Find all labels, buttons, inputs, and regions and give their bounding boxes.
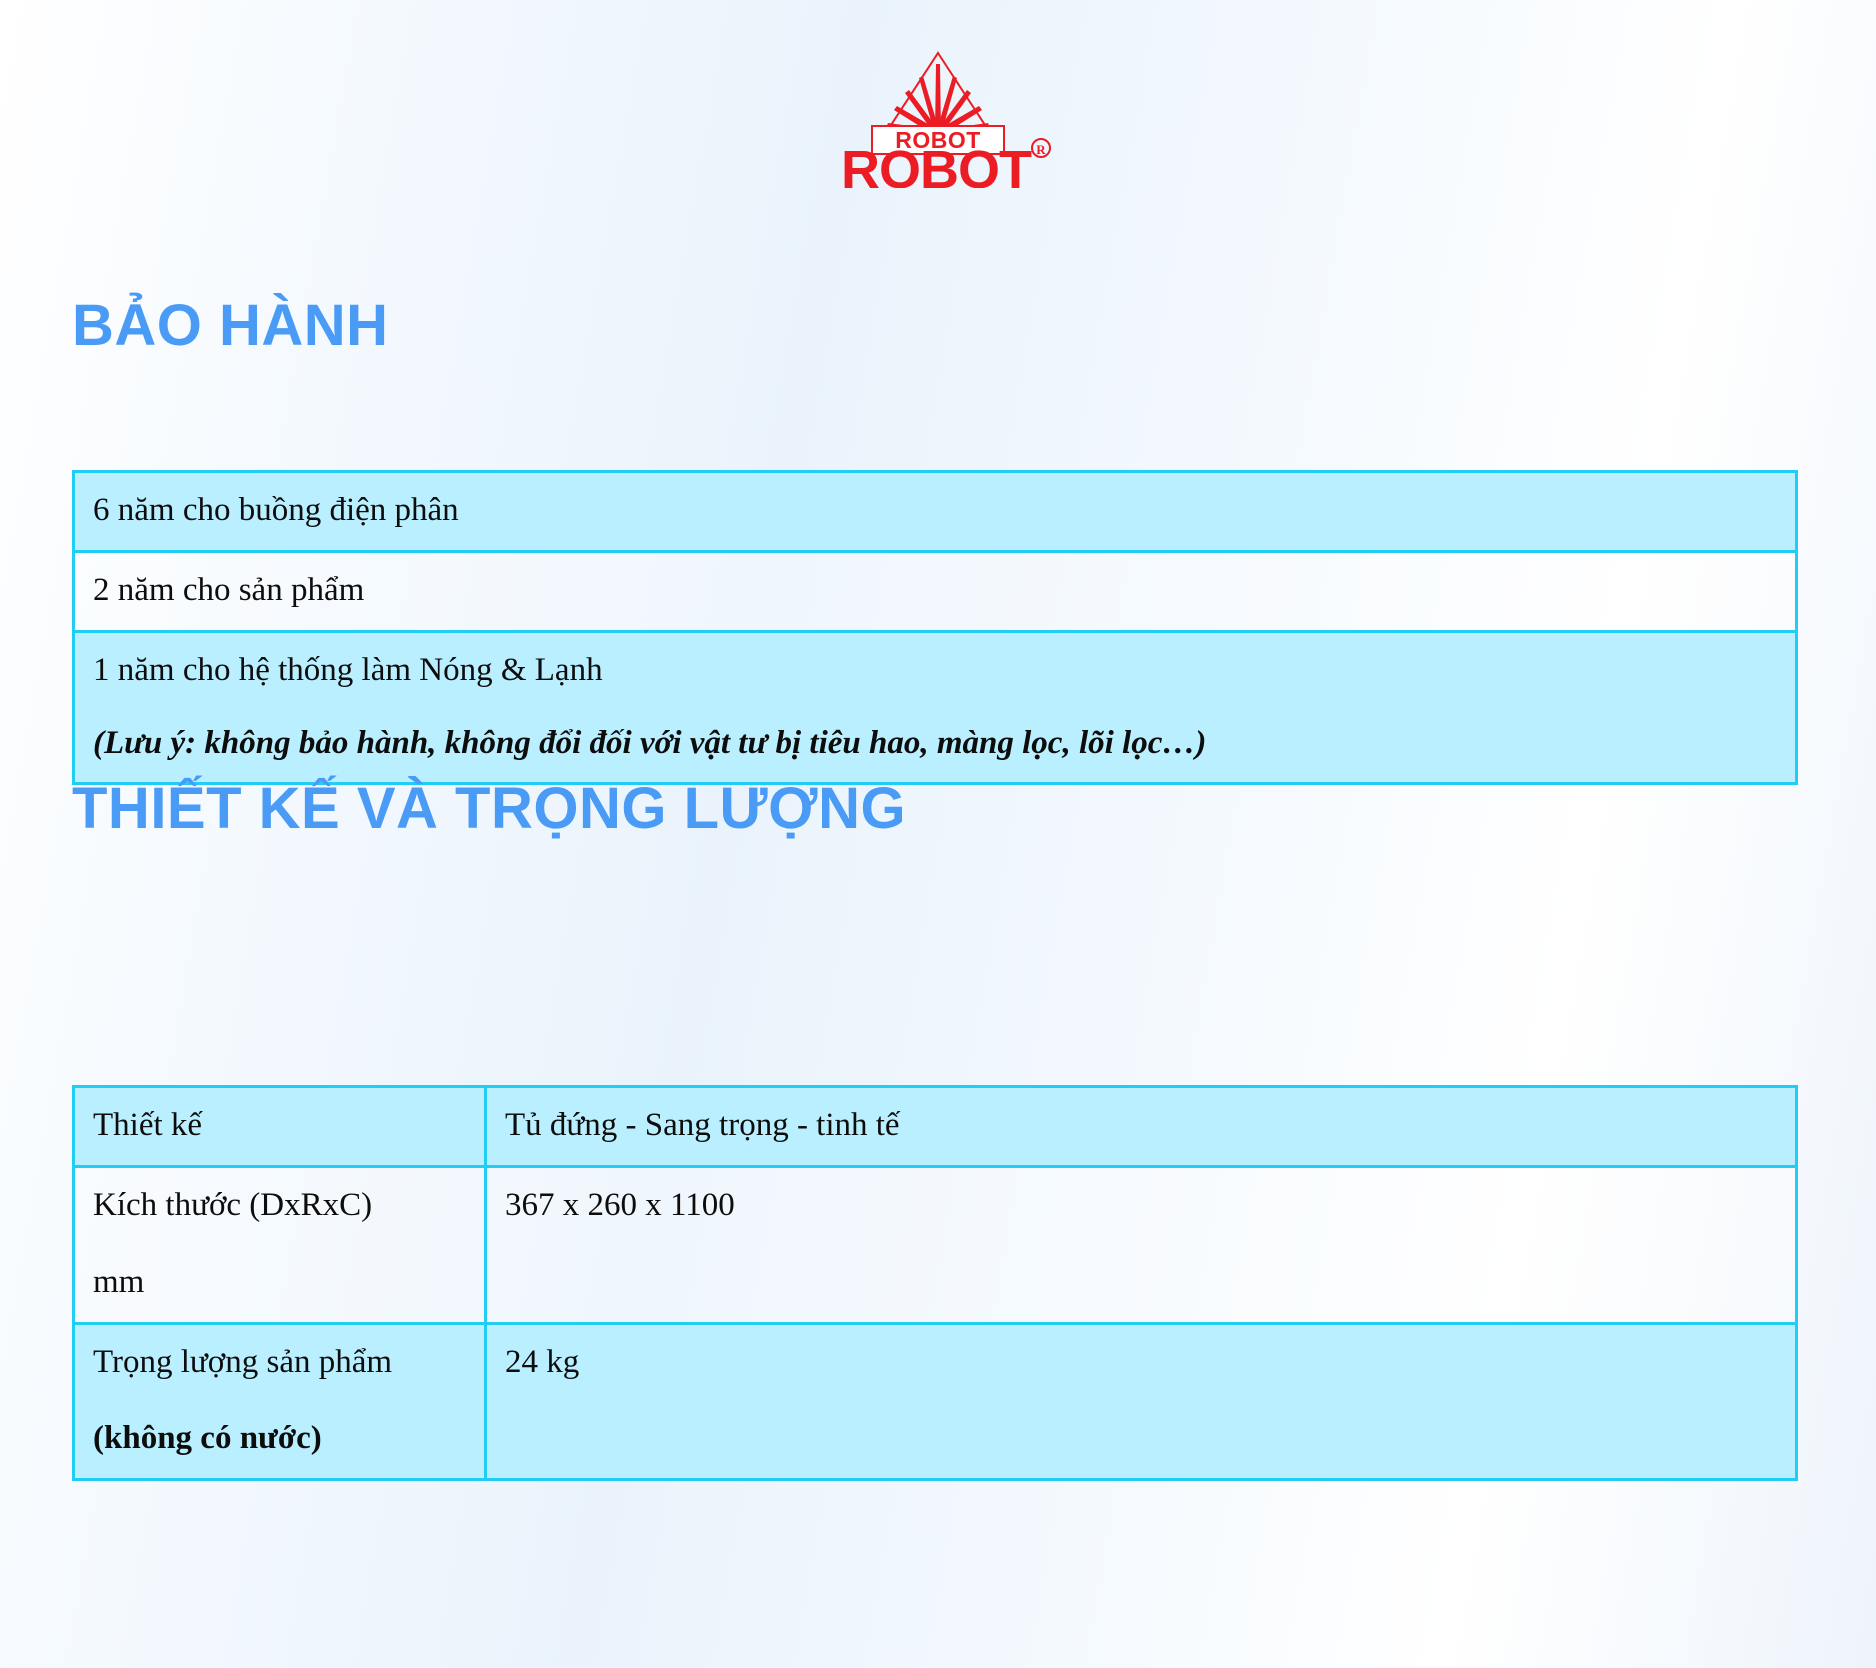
robot-logo: ROBOT ROBOT R bbox=[788, 38, 1088, 188]
section-heading-warranty: BẢO HÀNH bbox=[72, 292, 389, 359]
warranty-note: (Lưu ý: không bảo hành, không đổi đối vớ… bbox=[93, 720, 1777, 767]
design-row-2-label-unit: mm bbox=[93, 1259, 466, 1306]
design-row-3-label-cell: Trọng lượng sản phẩm (không có nước) bbox=[74, 1323, 486, 1480]
table-row: 1 năm cho hệ thống làm Nóng & Lạnh (Lưu … bbox=[74, 631, 1797, 784]
table-row: Thiết kế Tủ đứng - Sang trọng - tinh tế bbox=[74, 1087, 1797, 1167]
registered-mark-icon: R bbox=[1032, 139, 1050, 157]
warranty-row-2-text: 2 năm cho sản phẩm bbox=[74, 551, 1797, 631]
warranty-row-3-text: 1 năm cho hệ thống làm Nóng & Lạnh bbox=[93, 652, 603, 688]
design-row-1-label: Thiết kế bbox=[74, 1087, 486, 1167]
warranty-row-1-text: 6 năm cho buồng điện phân bbox=[74, 472, 1797, 552]
warranty-row-3-cell: 1 năm cho hệ thống làm Nóng & Lạnh (Lưu … bbox=[74, 631, 1797, 784]
design-row-1-value: Tủ đứng - Sang trọng - tinh tế bbox=[486, 1087, 1797, 1167]
table-row: 6 năm cho buồng điện phân bbox=[74, 472, 1797, 552]
table-row: Kích thước (DxRxC) mm 367 x 260 x 1100 bbox=[74, 1166, 1797, 1323]
section-heading-design: THIẾT KẾ VÀ TRỌNG LƯỢNG bbox=[72, 775, 906, 842]
warranty-table: 6 năm cho buồng điện phân 2 năm cho sản … bbox=[72, 470, 1798, 785]
svg-text:R: R bbox=[1036, 142, 1046, 157]
design-row-3-value: 24 kg bbox=[486, 1323, 1797, 1480]
robot-wordmark: ROBOT bbox=[841, 140, 1032, 188]
design-row-3-label-note: (không có nước) bbox=[93, 1415, 466, 1462]
robot-logo-graphic: ROBOT ROBOT R bbox=[788, 38, 1088, 188]
brand-logo-container: ROBOT ROBOT R bbox=[0, 38, 1876, 188]
design-row-2-value: 367 x 260 x 1100 bbox=[486, 1166, 1797, 1323]
design-row-2-label: Kích thước (DxRxC) bbox=[93, 1187, 372, 1223]
design-table: Thiết kế Tủ đứng - Sang trọng - tinh tế … bbox=[72, 1085, 1798, 1481]
table-row: 2 năm cho sản phẩm bbox=[74, 551, 1797, 631]
design-row-3-label: Trọng lượng sản phẩm bbox=[93, 1344, 392, 1380]
table-row: Trọng lượng sản phẩm (không có nước) 24 … bbox=[74, 1323, 1797, 1480]
design-row-2-label-cell: Kích thước (DxRxC) mm bbox=[74, 1166, 486, 1323]
